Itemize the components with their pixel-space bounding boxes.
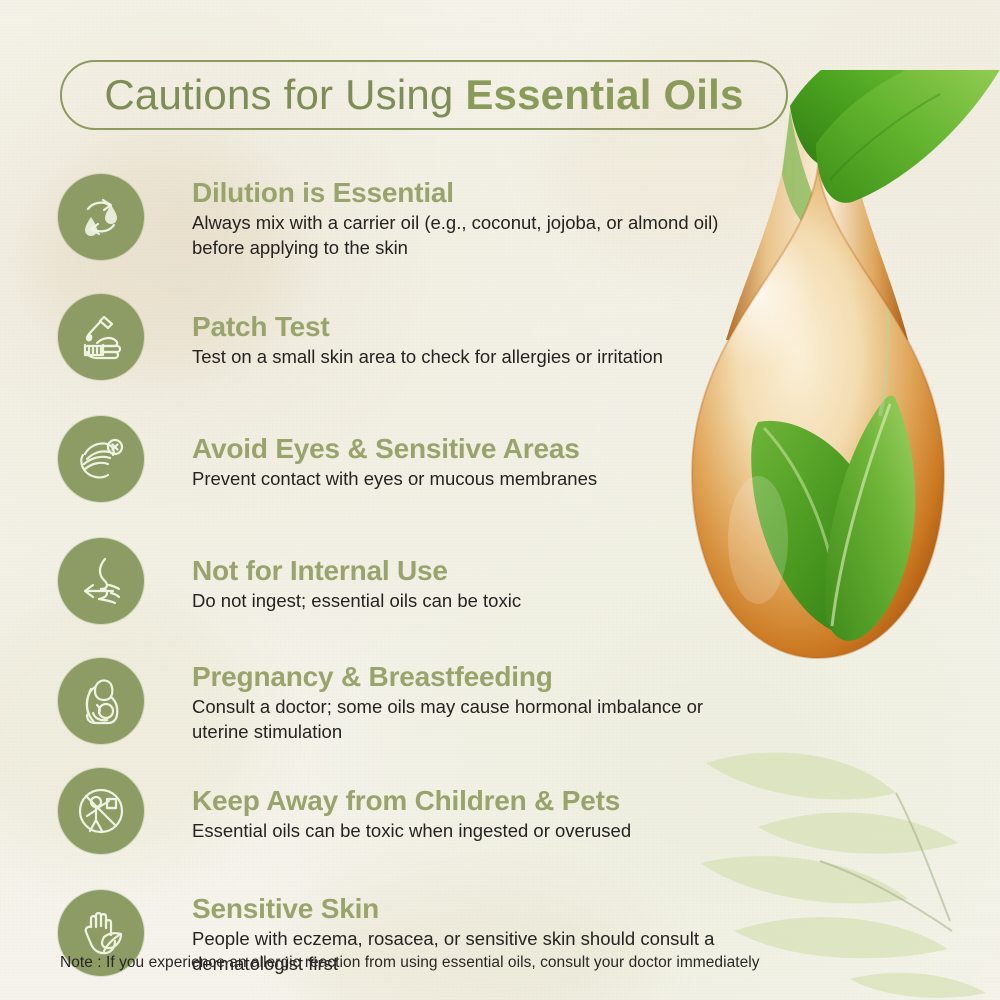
cautions-list: Dilution is Essential Always mix with a … [58, 174, 758, 1000]
dropper-on-hand-icon [73, 309, 129, 365]
list-item-body: Essential oils can be toxic when ingeste… [192, 819, 752, 844]
dilution-droplets-recycle-icon [73, 189, 129, 245]
list-item: Keep Away from Children & Pets Essential… [58, 768, 758, 864]
list-item-heading: Avoid Eyes & Sensitive Areas [192, 434, 758, 464]
inner-leaf-left [751, 421, 885, 632]
list-item-heading: Pregnancy & Breastfeeding [192, 662, 758, 692]
droplet-shape [85, 217, 97, 236]
list-item-text: Not for Internal Use Do not ingest; esse… [192, 538, 758, 614]
page-title: Cautions for Using Essential Oils [104, 71, 743, 119]
no-ingestion-face-icon [73, 553, 129, 609]
leaf-vein [830, 94, 940, 180]
leaf-vein [832, 404, 890, 626]
poster-canvas: Cautions for Using Essential Oils [0, 0, 1000, 1000]
list-item-heading: Sensitive Skin [192, 894, 758, 924]
list-item-text: Patch Test Test on a small skin area to … [192, 294, 758, 370]
badge-pregnancy [58, 658, 144, 744]
leaf-stem [878, 198, 888, 416]
badge-avoid-eyes [58, 416, 144, 502]
list-item-body: Test on a small skin area to check for a… [192, 345, 752, 370]
list-item-text: Keep Away from Children & Pets Essential… [192, 768, 758, 844]
list-item-heading: Patch Test [192, 312, 758, 342]
list-item-heading: Dilution is Essential [192, 178, 758, 208]
mother-and-baby-icon [73, 673, 129, 729]
list-item-heading: Keep Away from Children & Pets [192, 786, 758, 816]
title-box: Cautions for Using Essential Oils [60, 60, 788, 130]
list-item-body: Consult a doctor; some oils may cause ho… [192, 695, 752, 744]
list-item: Dilution is Essential Always mix with a … [58, 174, 758, 270]
droplet-top-leaf-back [790, 70, 1000, 167]
leaf-vein [764, 428, 840, 628]
list-item-text: Avoid Eyes & Sensitive Areas Prevent con… [192, 416, 758, 492]
footer-note: Note : If you experience an allergic rea… [60, 954, 760, 972]
badge-patch-test [58, 294, 144, 380]
droplet-top-leaf-front [816, 70, 1000, 203]
list-item-text: Dilution is Essential Always mix with a … [192, 174, 758, 260]
no-child-reaching-icon [73, 783, 129, 839]
hand-over-eye-blocked-icon [73, 431, 129, 487]
title-emphasis: Essential Oils [465, 71, 743, 118]
list-item-heading: Not for Internal Use [192, 556, 758, 586]
list-item-body: Always mix with a carrier oil (e.g., coc… [192, 211, 752, 260]
hand-with-leaf-icon [73, 905, 129, 961]
badge-dilution [58, 174, 144, 260]
list-item: Not for Internal Use Do not ingest; esse… [58, 538, 758, 634]
list-item: Avoid Eyes & Sensitive Areas Prevent con… [58, 416, 758, 512]
droplet-leaf-tail [782, 110, 830, 233]
title-plain: Cautions for Using [104, 71, 465, 118]
leaf-stems [820, 793, 952, 931]
list-item-body: Prevent contact with eyes or mucous memb… [192, 467, 752, 492]
badge-keep-away [58, 768, 144, 854]
badge-not-internal [58, 538, 144, 624]
list-item: Pregnancy & Breastfeeding Consult a doct… [58, 658, 758, 754]
list-item-body: Do not ingest; essential oils can be tox… [192, 589, 752, 614]
list-item-text: Pregnancy & Breastfeeding Consult a doct… [192, 658, 758, 744]
list-item: Patch Test Test on a small skin area to … [58, 294, 758, 390]
inner-leaf-right [825, 396, 915, 641]
